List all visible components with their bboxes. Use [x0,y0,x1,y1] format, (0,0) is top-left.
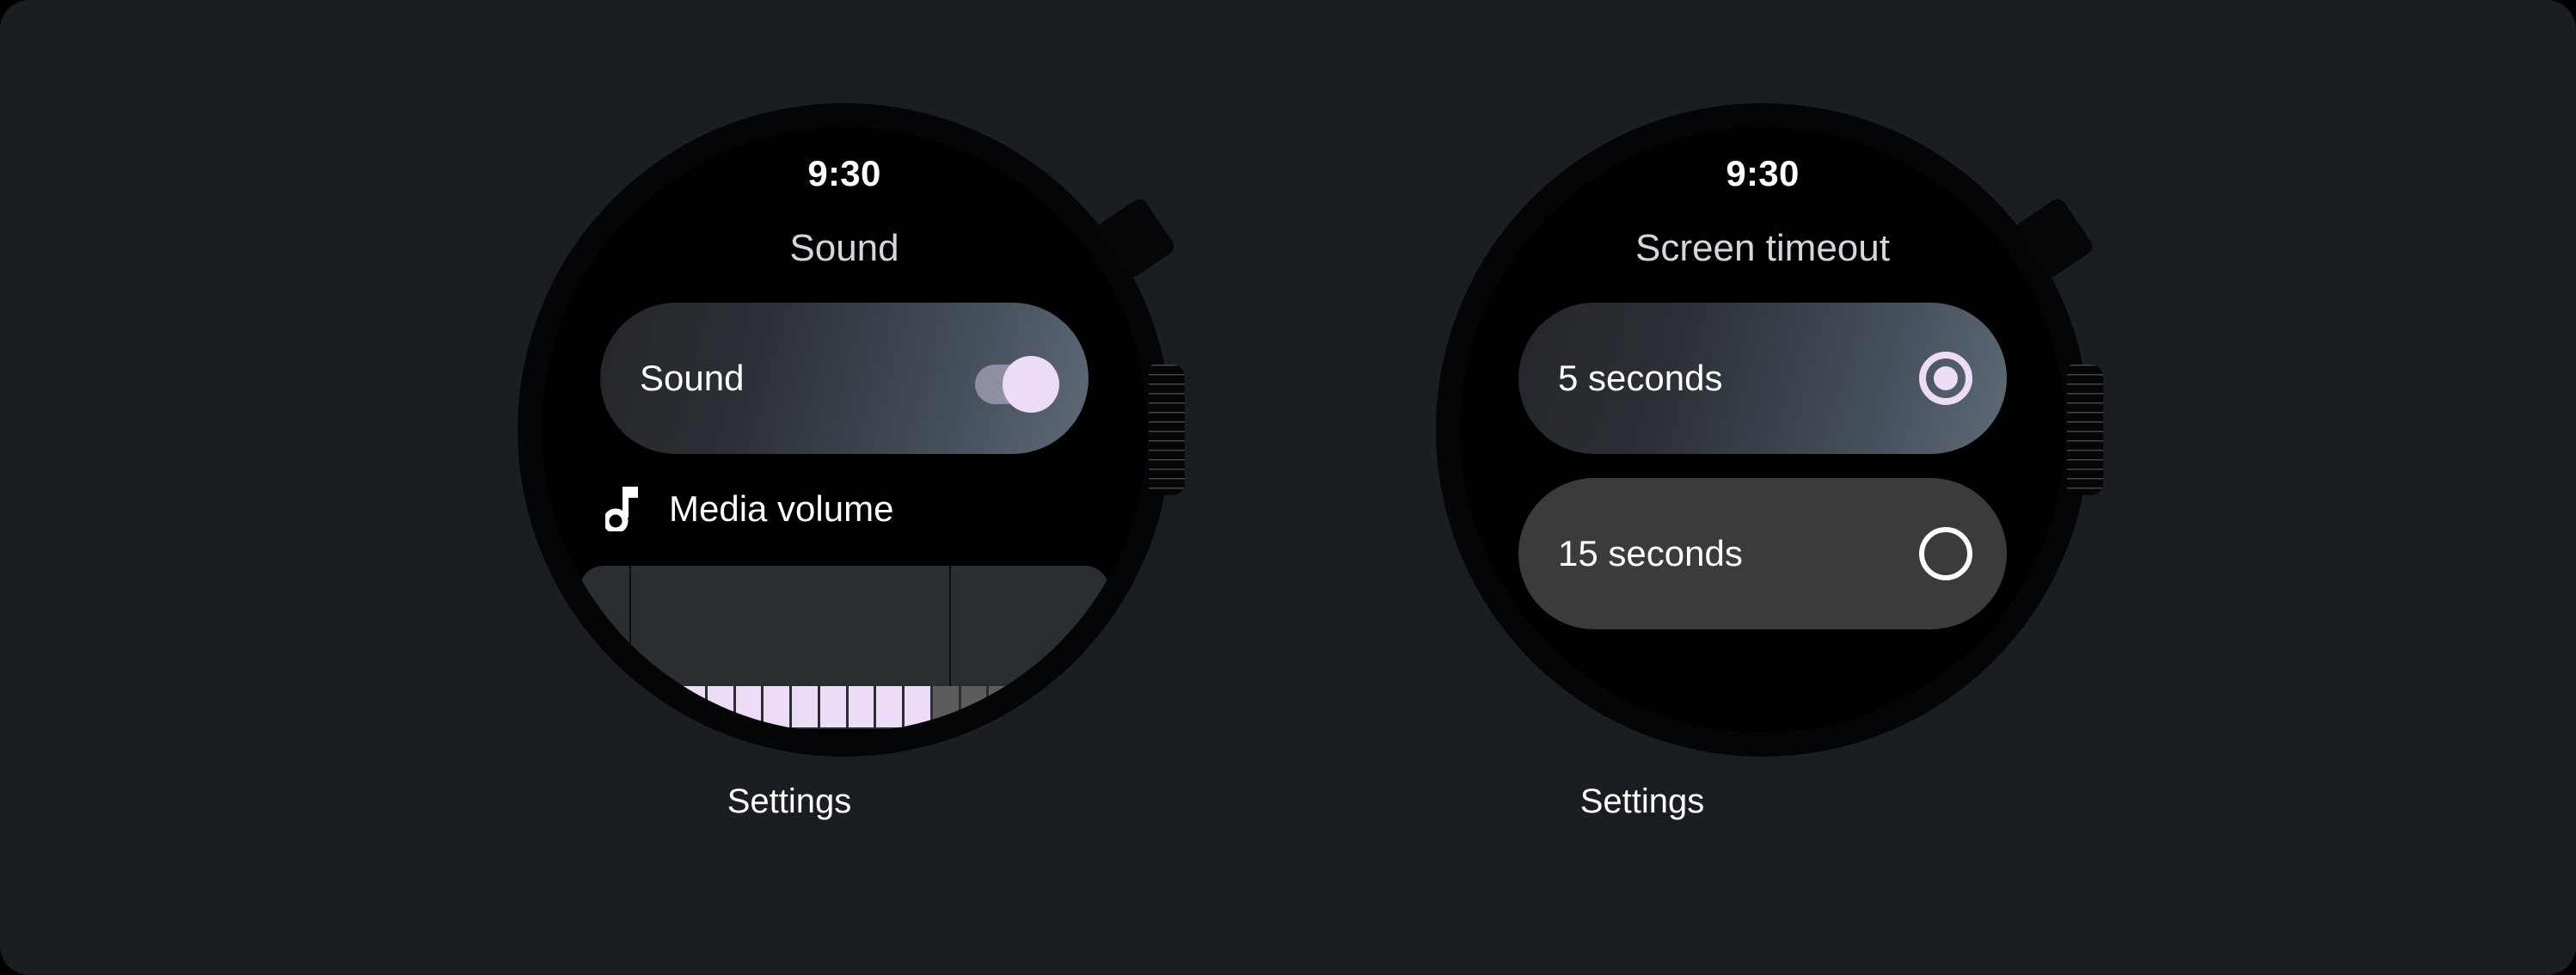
timeout-option-label: 5 seconds [1558,358,1919,399]
media-volume-row[interactable]: Media volume [542,487,1147,531]
sound-toggle-switch[interactable] [975,357,1054,400]
switch-thumb [1003,356,1059,413]
watch-preview-sound: 9:30 Sound Sound [500,103,1188,860]
watch-caption-screen-timeout: Settings [1298,782,1986,821]
volume-bar [933,686,959,727]
volume-bar [764,686,789,727]
timeout-option-15-seconds[interactable]: 15 seconds [1518,478,2007,629]
sound-toggle-label: Sound [640,358,975,399]
radio-unselected-icon[interactable] [1919,527,1972,580]
volume-bar [905,686,930,727]
page-title: Sound [542,227,1147,270]
timeout-option-label: 15 seconds [1558,533,1919,574]
volume-bar [820,686,846,727]
watch-crown[interactable] [1149,365,1185,495]
volume-bar [849,686,874,727]
volume-bar [708,686,733,727]
status-bar-time: 9:30 [542,153,1147,194]
volume-bar [679,686,705,727]
volume-bar [989,686,1015,727]
page-title: Screen timeout [1460,227,2065,270]
media-volume-label: Media volume [669,488,893,530]
watch-device: 9:30 Sound Sound [518,103,1171,757]
watch-preview-screen-timeout: 9:30 Screen timeout 5 seconds 15 seconds… [1419,103,2107,860]
watch-screen: 9:30 Sound Sound [542,127,1147,733]
status-bar-time: 9:30 [1460,153,2065,194]
volume-bar [876,686,902,727]
watch-crown[interactable] [2067,365,2103,495]
sound-toggle-chip[interactable]: Sound [600,303,1089,454]
timeout-option-5-seconds[interactable]: 5 seconds [1518,303,2007,454]
volume-bar [961,686,987,727]
volume-slider-segment[interactable] [580,566,631,729]
music-note-icon [605,487,640,531]
volume-bar [792,686,818,727]
watch-screen: 9:30 Screen timeout 5 seconds 15 seconds [1460,127,2065,733]
volume-level-bars [679,686,1015,727]
page-root: 9:30 Sound Sound [0,0,2576,975]
watch-caption-sound: Settings [445,782,1133,821]
volume-bar [736,686,762,727]
radio-selected-icon[interactable] [1919,352,1972,405]
watch-device: 9:30 Screen timeout 5 seconds 15 seconds [1436,103,2089,757]
